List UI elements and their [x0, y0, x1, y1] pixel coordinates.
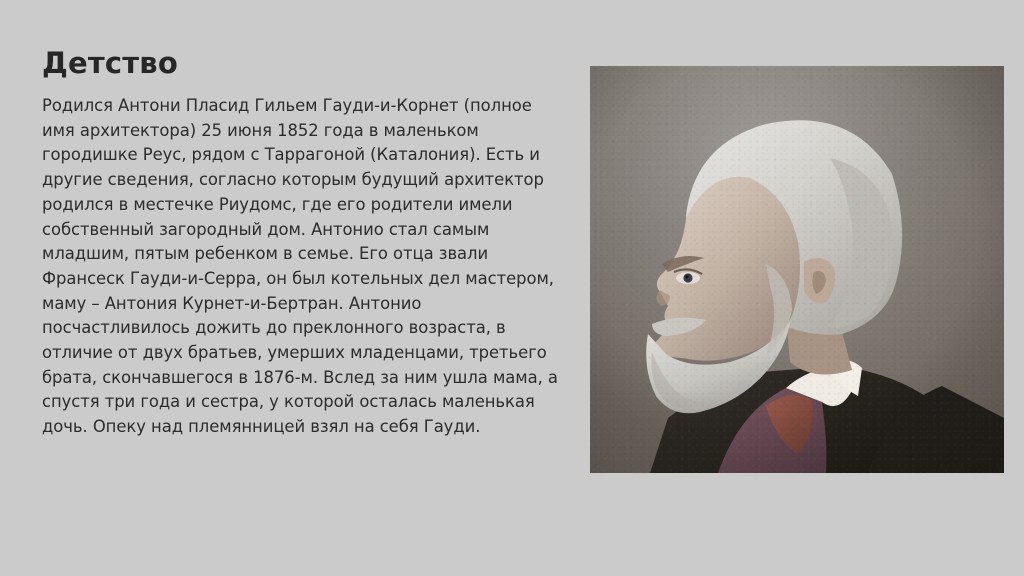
- portrait-image-frame: [590, 66, 1004, 473]
- presentation-slide: Детство Родился Антони Пласид Гильем Гау…: [0, 0, 1024, 576]
- portrait-photo-gaudi: [590, 66, 1004, 473]
- body-paragraph: Родился Антони Пласид Гильем Гауди-и-Кор…: [42, 94, 560, 440]
- page-title: Детство: [42, 46, 178, 80]
